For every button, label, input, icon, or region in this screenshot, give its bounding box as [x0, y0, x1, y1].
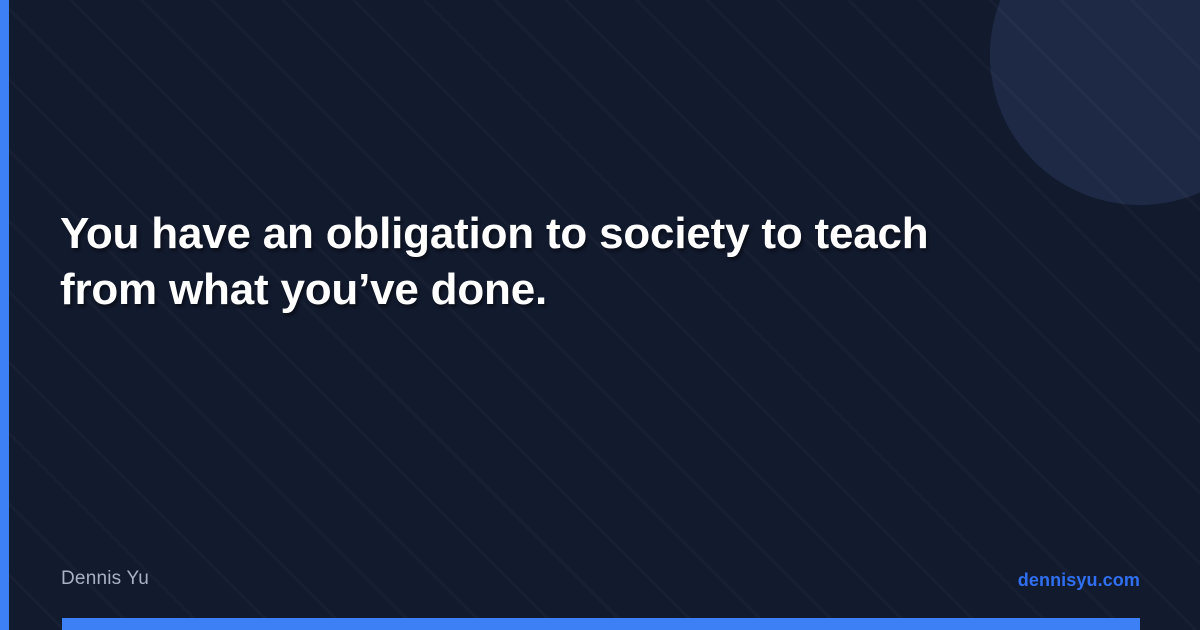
site-url-link[interactable]: dennisyu.com	[1018, 567, 1140, 593]
footer: Dennis Yu dennisyu.com	[0, 566, 1200, 596]
quote-card: You have an obligation to society to tea…	[0, 0, 1200, 630]
quote-text: You have an obligation to society to tea…	[60, 206, 940, 318]
bottom-accent-bar	[62, 618, 1140, 630]
decorative-circle	[990, 0, 1200, 205]
left-accent-bar	[0, 0, 9, 630]
author-name: Dennis Yu	[61, 566, 149, 592]
